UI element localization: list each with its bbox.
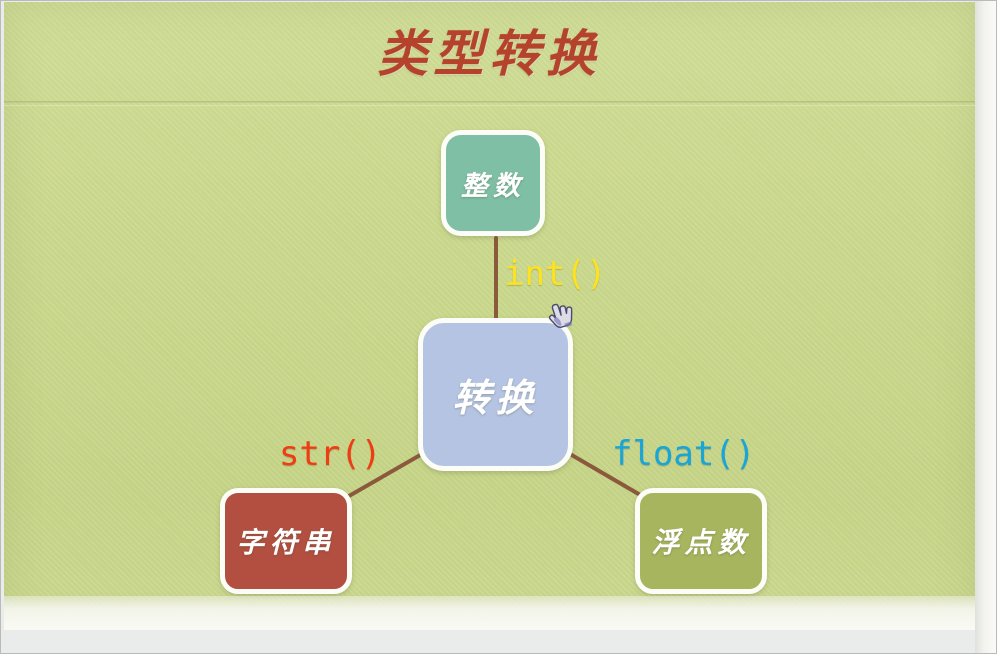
screen-capture: 类型转换 整数 转换 字符串 浮点数 int() str() float() (0, 0, 997, 654)
edge-label-str: str() (279, 434, 381, 474)
diagram-node-convert[interactable]: 转换 (418, 318, 573, 471)
diagram-node-string-label: 字符串 (236, 521, 335, 561)
diagram-node-float[interactable]: 浮点数 (635, 488, 767, 594)
bottom-caption: python基础 (30, 625, 125, 630)
diagram-node-integer-label: 整数 (461, 164, 525, 203)
diagram-node-string[interactable]: 字符串 (220, 488, 352, 594)
edge-label-int: int() (504, 254, 606, 294)
diagram-connector-layer (4, 2, 975, 630)
diagram-node-integer[interactable]: 整数 (441, 130, 545, 236)
bottom-band: python基础 (4, 596, 975, 630)
diagram-node-convert-label: 转换 (452, 367, 538, 422)
diagram-node-float-label: 浮点数 (651, 521, 750, 561)
presentation-slide: 类型转换 整数 转换 字符串 浮点数 int() str() float() (4, 2, 975, 630)
edge-label-float: float() (612, 434, 755, 474)
page-right-gutter (975, 0, 997, 654)
